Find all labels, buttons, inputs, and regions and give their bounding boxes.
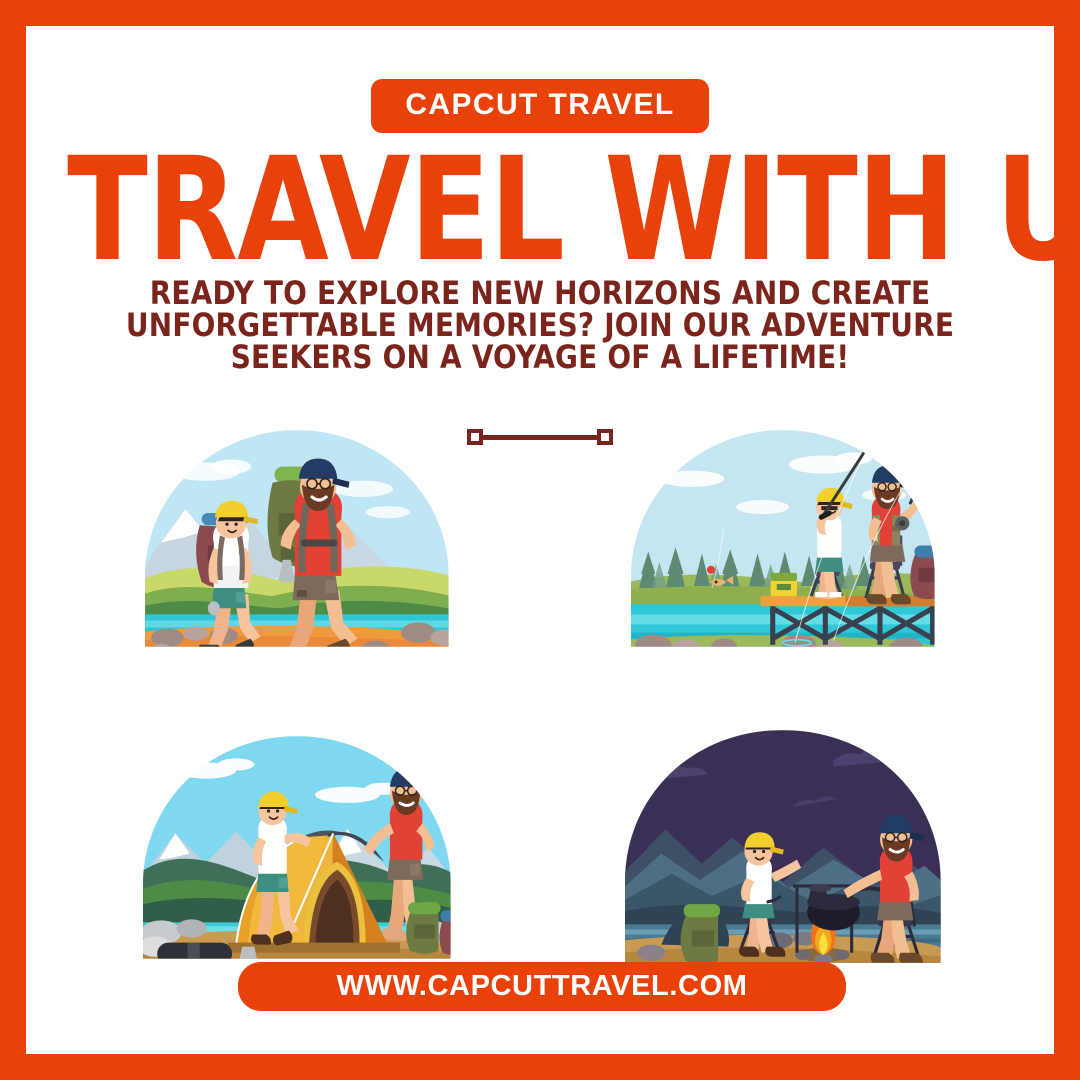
- badge-container: CAPCUT TRAVEL: [26, 79, 1054, 133]
- illustration-cell-hiking: [54, 404, 540, 712]
- page-title: TRAVEL WITH US: [67, 138, 1013, 281]
- illustration-cell-fishing: [540, 404, 1026, 712]
- poster-canvas: CAPCUT TRAVEL TRAVEL WITH US READY TO EX…: [0, 0, 1080, 1080]
- poster-inner-panel: CAPCUT TRAVEL TRAVEL WITH US READY TO EX…: [26, 26, 1054, 1054]
- subtitle-line-3: SEEKERS ON A VOYAGE OF A LIFETIME!: [113, 341, 967, 373]
- fishing-illustration: [569, 416, 997, 699]
- subtitle-line-2: UNFORGETTABLE MEMORIES? JOIN OUR ADVENTU…: [113, 309, 967, 341]
- website-url-bar[interactable]: WWW.CAPCUTTRAVEL.COM: [238, 962, 846, 1011]
- hiking-illustration: [83, 416, 511, 699]
- illustration-grid: [54, 404, 1026, 1020]
- subtitle-block: READY TO EXPLORE NEW HORIZONS AND CREATE…: [100, 277, 980, 373]
- subtitle-line-1: READY TO EXPLORE NEW HORIZONS AND CREATE: [113, 277, 967, 309]
- brand-badge[interactable]: CAPCUT TRAVEL: [371, 79, 708, 133]
